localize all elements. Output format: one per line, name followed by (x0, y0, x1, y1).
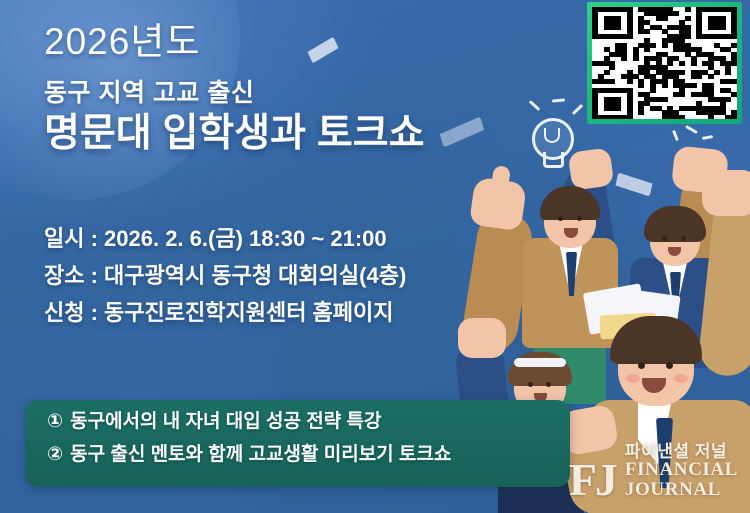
lightbulb-ray-icon (552, 98, 565, 102)
financial-journal-logo: FJ 파이낸셜 저널 FINANCIAL JOURNAL (569, 443, 738, 499)
event-location: 장소 : 대구광역시 동구청 대회의실(4층) (44, 265, 406, 287)
student-blush (626, 374, 640, 383)
program-item: ②동구 출신 멘토와 함께 고교생활 미리보기 토크쇼 (47, 445, 570, 464)
program-item-number: ② (47, 445, 63, 464)
logo-english-line2: JOURNAL (625, 480, 738, 499)
qr-code-matrix (592, 7, 737, 119)
poster-title-block: 2026년도 동구 지역 고교 출신 명문대 입학생과 토크쇼 (44, 22, 424, 156)
program-item-label: 동구 출신 멘토와 함께 고교생활 미리보기 토크쇼 (70, 444, 451, 465)
page-title: 명문대 입학생과 토크쇼 (44, 112, 424, 156)
lightbulb-ray-icon (572, 104, 583, 115)
raised-fist (458, 318, 506, 358)
logo-text: 파이낸셜 저널 FINANCIAL JOURNAL (625, 443, 738, 499)
logo-english-line1: FINANCIAL (625, 460, 738, 479)
student-eye (666, 362, 673, 369)
event-registration: 신청 : 동구진로진학지원센터 홈페이지 (44, 302, 406, 324)
spark-line-icon (672, 130, 679, 141)
spark-line-icon (702, 135, 713, 140)
event-datetime: 일시 : 2026. 2. 6.(금) 18:30 ~ 21:00 (44, 228, 406, 250)
student-eye (546, 382, 551, 387)
event-poster: 2026년도 동구 지역 고교 출신 명문대 입학생과 토크쇼 일시 : 202… (0, 0, 750, 513)
qr-code[interactable] (587, 2, 742, 124)
program-item: ①동구에서의 내 자녀 대입 성공 전략 특강 (47, 412, 570, 431)
lightbulb-base-icon (543, 152, 564, 168)
title-year: 2026년도 (44, 22, 424, 63)
program-item-number: ① (47, 412, 63, 431)
title-subtitle: 동구 지역 고교 출신 (44, 79, 424, 108)
event-details: 일시 : 2026. 2. 6.(금) 18:30 ~ 21:00 장소 : 대… (44, 228, 406, 339)
program-item-label: 동구에서의 내 자녀 대입 성공 전략 특강 (70, 411, 381, 432)
student-eye (558, 216, 563, 221)
student-blush (674, 374, 688, 383)
student-eye (681, 236, 686, 241)
raised-fist (568, 147, 615, 190)
lightbulb-filament-icon (544, 128, 560, 143)
student-headband (514, 358, 566, 367)
program-box: ①동구에서의 내 자녀 대입 성공 전략 특강 ②동구 출신 멘토와 함께 고교… (25, 400, 570, 487)
lightbulb-ray-icon (529, 100, 541, 111)
student-eye (577, 216, 582, 221)
spark-line-icon (685, 125, 698, 134)
student-eye (662, 236, 667, 241)
raised-fist (702, 170, 750, 216)
student-eye (528, 382, 533, 387)
logo-korean-name: 파이낸셜 저널 (625, 443, 738, 460)
logo-monogram: FJ (569, 460, 616, 499)
student-eye (638, 362, 645, 369)
